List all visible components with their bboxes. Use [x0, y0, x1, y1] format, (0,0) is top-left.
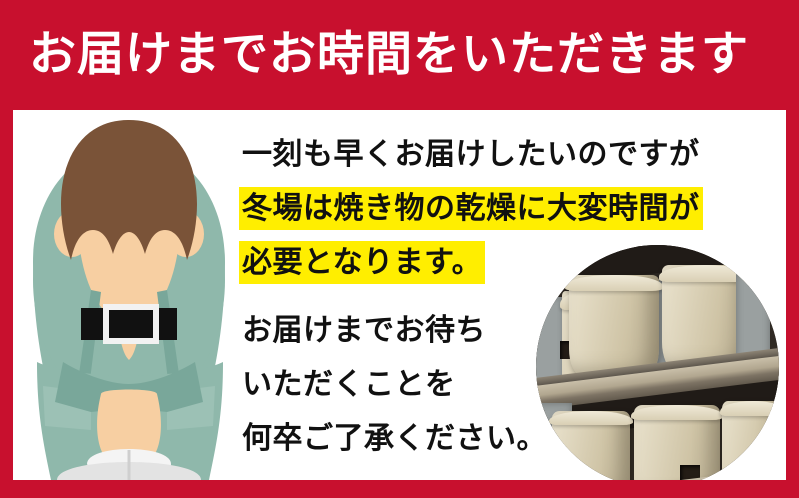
photo-pot-rim — [631, 405, 724, 420]
message-line-2-text: 冬場は焼き物の乾燥に大変時間が — [241, 189, 701, 228]
photo-pot-bottom-center — [634, 405, 720, 480]
header-title: お届けまでお時間をいただきます — [29, 26, 749, 84]
photo-pot-bottom-left — [552, 411, 630, 480]
message-line-2: 冬場は焼き物の乾燥に大変時間が — [241, 182, 711, 236]
bottom-red-bar — [0, 480, 799, 498]
bowing-person-svg — [17, 112, 242, 480]
content-panel: 一刻も早くお届けしたいのですが 冬場は焼き物の乾燥に大変時間が 必要となります。… — [13, 110, 786, 480]
message-line-3-text: 必要となります。 — [241, 243, 483, 282]
photo-pot-top-center — [569, 275, 659, 375]
message-line-5-text: いただくことを — [241, 365, 457, 404]
message-line-4-text: お届けまでお待ち — [241, 311, 487, 350]
bowing-person-illustration — [17, 112, 242, 480]
photo-pot-rim — [565, 275, 662, 291]
banner-header: お届けまでお時間をいただきます — [0, 0, 799, 110]
photo-pot-rim — [720, 401, 779, 416]
message-line-6-text: 何卒ご了承ください。 — [241, 419, 548, 458]
notice-banner: お届けまでお時間をいただきます — [0, 0, 799, 498]
message-line-1-text: 一刻も早くお届けしたいのですが — [241, 135, 701, 174]
photo-pot-vent — [580, 473, 598, 480]
photo-pot-rim — [549, 411, 633, 425]
pottery-drying-shelves-photo — [536, 245, 779, 480]
pottery-scene — [536, 245, 779, 480]
person-belt-buckle — [109, 310, 153, 338]
message-line-1: 一刻も早くお届けしたいのですが — [241, 128, 711, 182]
